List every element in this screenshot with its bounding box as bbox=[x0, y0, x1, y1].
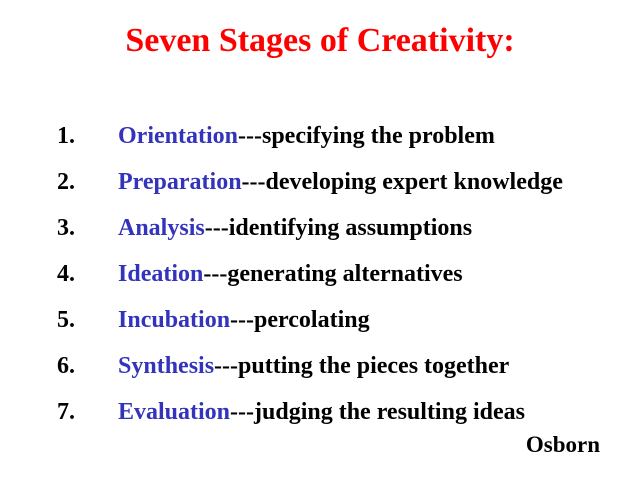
list-item: 2. Preparation---developing expert knowl… bbox=[0, 159, 640, 205]
list-item-separator: --- bbox=[203, 261, 227, 287]
list-item-number: 5. bbox=[57, 297, 75, 343]
list-item-keyword: Evaluation bbox=[118, 399, 230, 425]
list-item-text: Incubation---percolating bbox=[118, 297, 370, 343]
list-item-text: Synthesis---putting the pieces together bbox=[118, 343, 509, 389]
list-item: 7. Evaluation---judging the resulting id… bbox=[0, 389, 640, 435]
list-item: 3. Analysis---identifying assumptions bbox=[0, 205, 640, 251]
list-item-separator: --- bbox=[214, 353, 238, 379]
stage-list: 1. Orientation---specifying the problem … bbox=[0, 113, 640, 435]
list-item-number: 3. bbox=[57, 205, 75, 251]
attribution-source: Osborn bbox=[526, 431, 600, 459]
list-item-description: identifying assumptions bbox=[229, 215, 472, 241]
list-item-keyword: Ideation bbox=[118, 261, 203, 287]
list-item-text: Ideation---generating alternatives bbox=[118, 251, 463, 297]
list-item-keyword: Incubation bbox=[118, 307, 230, 333]
list-item-separator: --- bbox=[242, 169, 266, 195]
list-item-description: judging the resulting ideas bbox=[254, 399, 525, 425]
list-item-text: Preparation---developing expert knowledg… bbox=[118, 159, 563, 205]
list-item-text: Analysis---identifying assumptions bbox=[118, 205, 472, 251]
list-item-description: specifying the problem bbox=[262, 123, 495, 149]
list-item: 6. Synthesis---putting the pieces togeth… bbox=[0, 343, 640, 389]
list-item-keyword: Synthesis bbox=[118, 353, 214, 379]
list-item-description: percolating bbox=[254, 307, 370, 333]
list-item-number: 6. bbox=[57, 343, 75, 389]
page-title: Seven Stages of Creativity: bbox=[0, 20, 640, 62]
list-item-keyword: Preparation bbox=[118, 169, 242, 195]
list-item: 5. Incubation---percolating bbox=[0, 297, 640, 343]
list-item-keyword: Orientation bbox=[118, 123, 238, 149]
list-item: 1. Orientation---specifying the problem bbox=[0, 113, 640, 159]
list-item-description: developing expert knowledge bbox=[266, 169, 563, 195]
list-item-number: 4. bbox=[57, 251, 75, 297]
list-item-separator: --- bbox=[230, 307, 254, 333]
list-item-description: generating alternatives bbox=[227, 261, 462, 287]
list-item-separator: --- bbox=[205, 215, 229, 241]
presentation-slide: Seven Stages of Creativity: 1. Orientati… bbox=[0, 0, 640, 480]
list-item-text: Orientation---specifying the problem bbox=[118, 113, 495, 159]
list-item-separator: --- bbox=[238, 123, 262, 149]
list-item-number: 7. bbox=[57, 389, 75, 435]
list-item-number: 1. bbox=[57, 113, 75, 159]
list-item-separator: --- bbox=[230, 399, 254, 425]
list-item-text: Evaluation---judging the resulting ideas bbox=[118, 389, 525, 435]
list-item-number: 2. bbox=[57, 159, 75, 205]
list-item-description: putting the pieces together bbox=[238, 353, 509, 379]
list-item-keyword: Analysis bbox=[118, 215, 205, 241]
list-item: 4. Ideation---generating alternatives bbox=[0, 251, 640, 297]
